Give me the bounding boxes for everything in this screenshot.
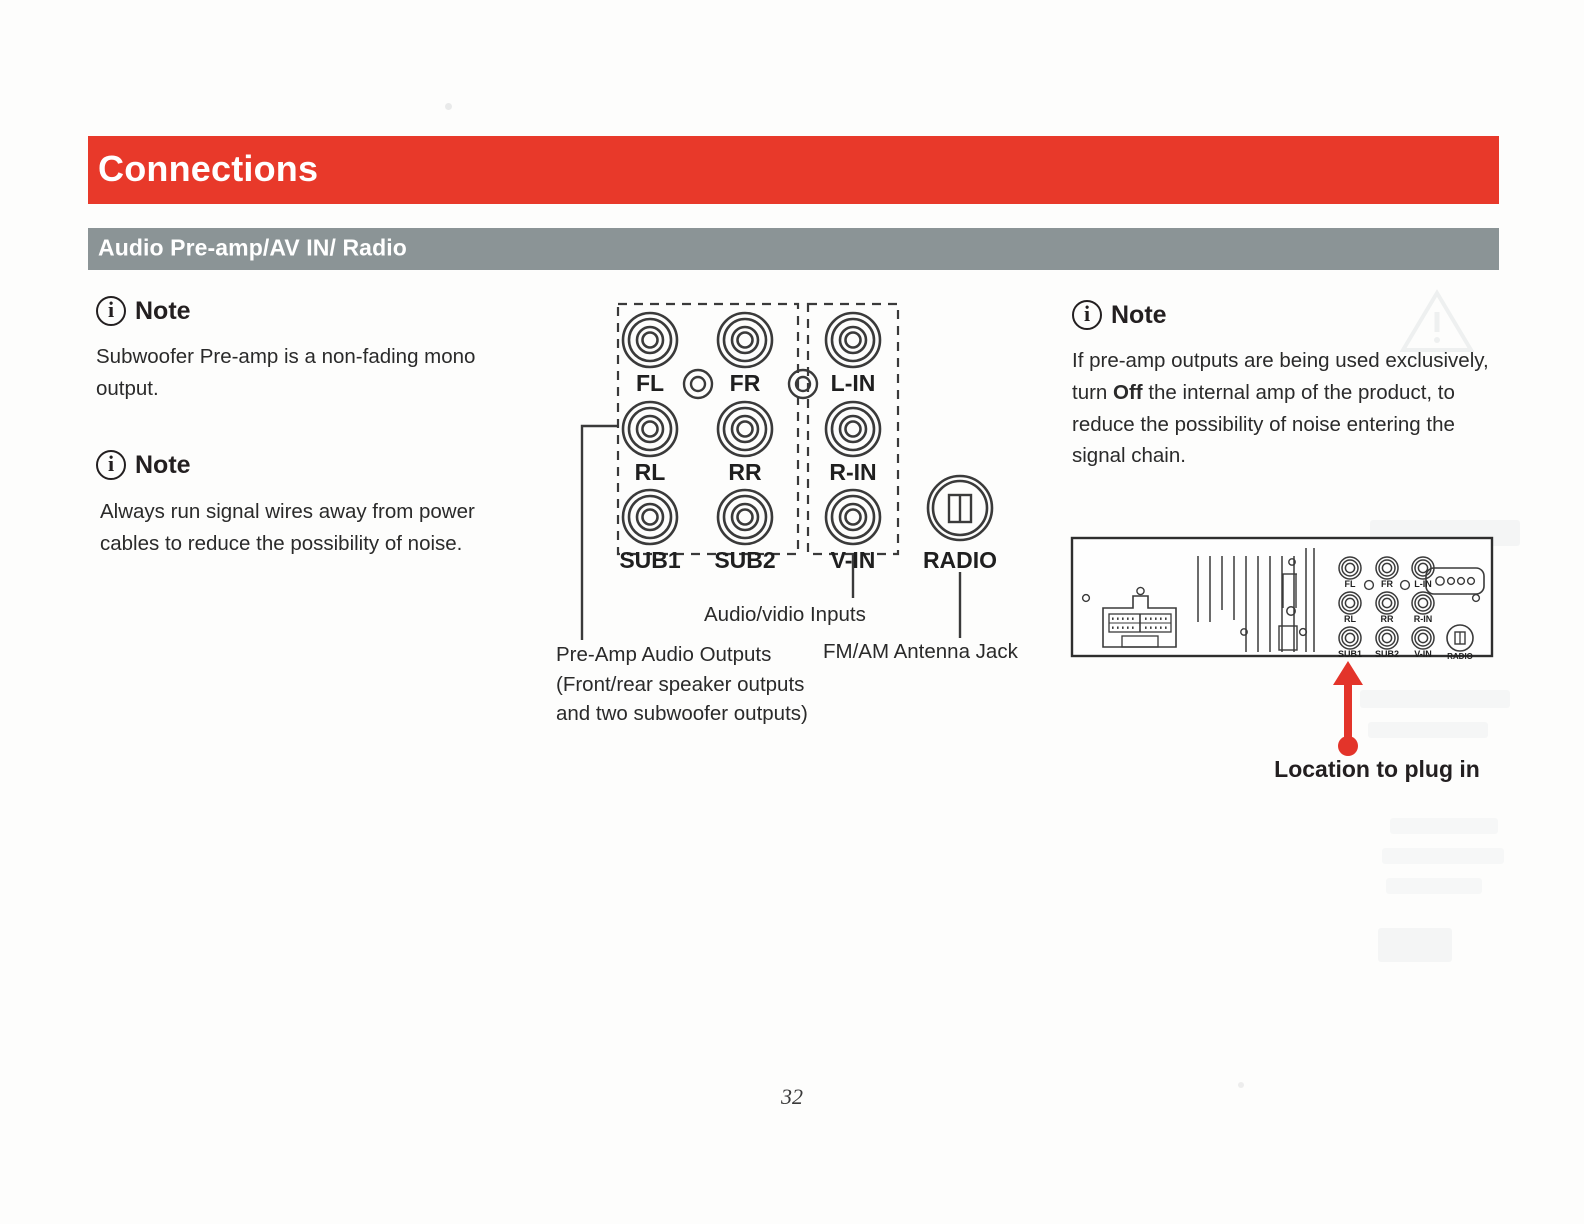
section-banner: Audio Pre-amp/AV IN/ Radio xyxy=(88,228,1499,270)
note-label: Note xyxy=(135,297,191,326)
section-title: Audio Pre-amp/AV IN/ Radio xyxy=(98,234,407,261)
note-label: Note xyxy=(1111,301,1167,330)
ghost-text-block xyxy=(1360,690,1510,708)
rear-jack-label-vin: V-IN xyxy=(1409,649,1437,659)
rear-jack-label-rr: RR xyxy=(1375,614,1399,624)
jack-label-fr: FR xyxy=(719,370,771,397)
rear-jack-label-sub2: SUB2 xyxy=(1373,649,1401,659)
rear-jack-label-rl: RL xyxy=(1338,614,1362,624)
plug-location-caption: Location to plug in xyxy=(1262,756,1492,783)
note-text-1: Subwoofer Pre-amp is a non-fading mono o… xyxy=(96,341,496,405)
rear-jack-label-lin: L-IN xyxy=(1409,579,1437,589)
rear-panel-illustration: FL FR L-IN RL RR R-IN SUB1 SUB2 V-IN RAD… xyxy=(1070,534,1494,660)
plug-location-arrow xyxy=(1318,660,1378,756)
info-icon-glyph: i xyxy=(1084,303,1090,325)
info-icon-glyph: i xyxy=(108,299,114,321)
jack-label-fl: FL xyxy=(624,370,676,397)
note-text-3: If pre-amp outputs are being used exclus… xyxy=(1072,345,1492,472)
info-icon: i xyxy=(1072,300,1102,330)
rear-jack-label-fl: FL xyxy=(1338,579,1362,589)
note-heading-1: i Note xyxy=(96,296,191,326)
scan-speck xyxy=(445,103,452,110)
info-icon-glyph: i xyxy=(108,453,114,475)
rear-jack-label-fr: FR xyxy=(1375,579,1399,589)
callout-antenna-jack: FM/AM Antenna Jack xyxy=(823,637,1018,667)
jack-label-lin: L-IN xyxy=(820,370,886,397)
jack-label-radio: RADIO xyxy=(910,547,1010,574)
jack-label-vin: V-IN xyxy=(820,547,886,574)
callout-av-inputs: Audio/vidio Inputs xyxy=(704,600,866,630)
note-label: Note xyxy=(135,451,191,480)
jack-label-sub1: SUB1 xyxy=(616,547,684,574)
info-icon: i xyxy=(96,450,126,480)
note-text-2: Always run signal wires away from power … xyxy=(100,496,500,560)
rear-jack-label-rin: R-IN xyxy=(1409,614,1437,624)
callout-preamp-outputs: Pre-Amp Audio Outputs (Front/rear speake… xyxy=(556,640,808,729)
chapter-banner: Connections xyxy=(88,136,1499,204)
jack-label-sub2: SUB2 xyxy=(711,547,779,574)
chapter-title: Connections xyxy=(98,148,318,190)
page-number: 32 xyxy=(0,1084,1584,1110)
ghost-text-block xyxy=(1378,928,1452,962)
rear-jack-label-sub1: SUB1 xyxy=(1336,649,1364,659)
ghost-text-block xyxy=(1368,722,1488,738)
note-heading-3: i Note xyxy=(1072,300,1167,330)
ghost-text-block xyxy=(1386,878,1482,894)
jack-label-rin: R-IN xyxy=(820,459,886,486)
note-heading-2: i Note xyxy=(96,450,191,480)
jack-label-rl: RL xyxy=(624,459,676,486)
manual-page: Connections Audio Pre-amp/AV IN/ Radio i… xyxy=(0,0,1584,1224)
note-text-3-emphasis: Off xyxy=(1113,381,1143,404)
info-icon: i xyxy=(96,296,126,326)
jack-label-rr: RR xyxy=(719,459,771,486)
rear-jack-label-radio: RADIO xyxy=(1442,652,1478,661)
ghost-text-block xyxy=(1390,818,1498,834)
ghost-text-block xyxy=(1382,848,1504,864)
